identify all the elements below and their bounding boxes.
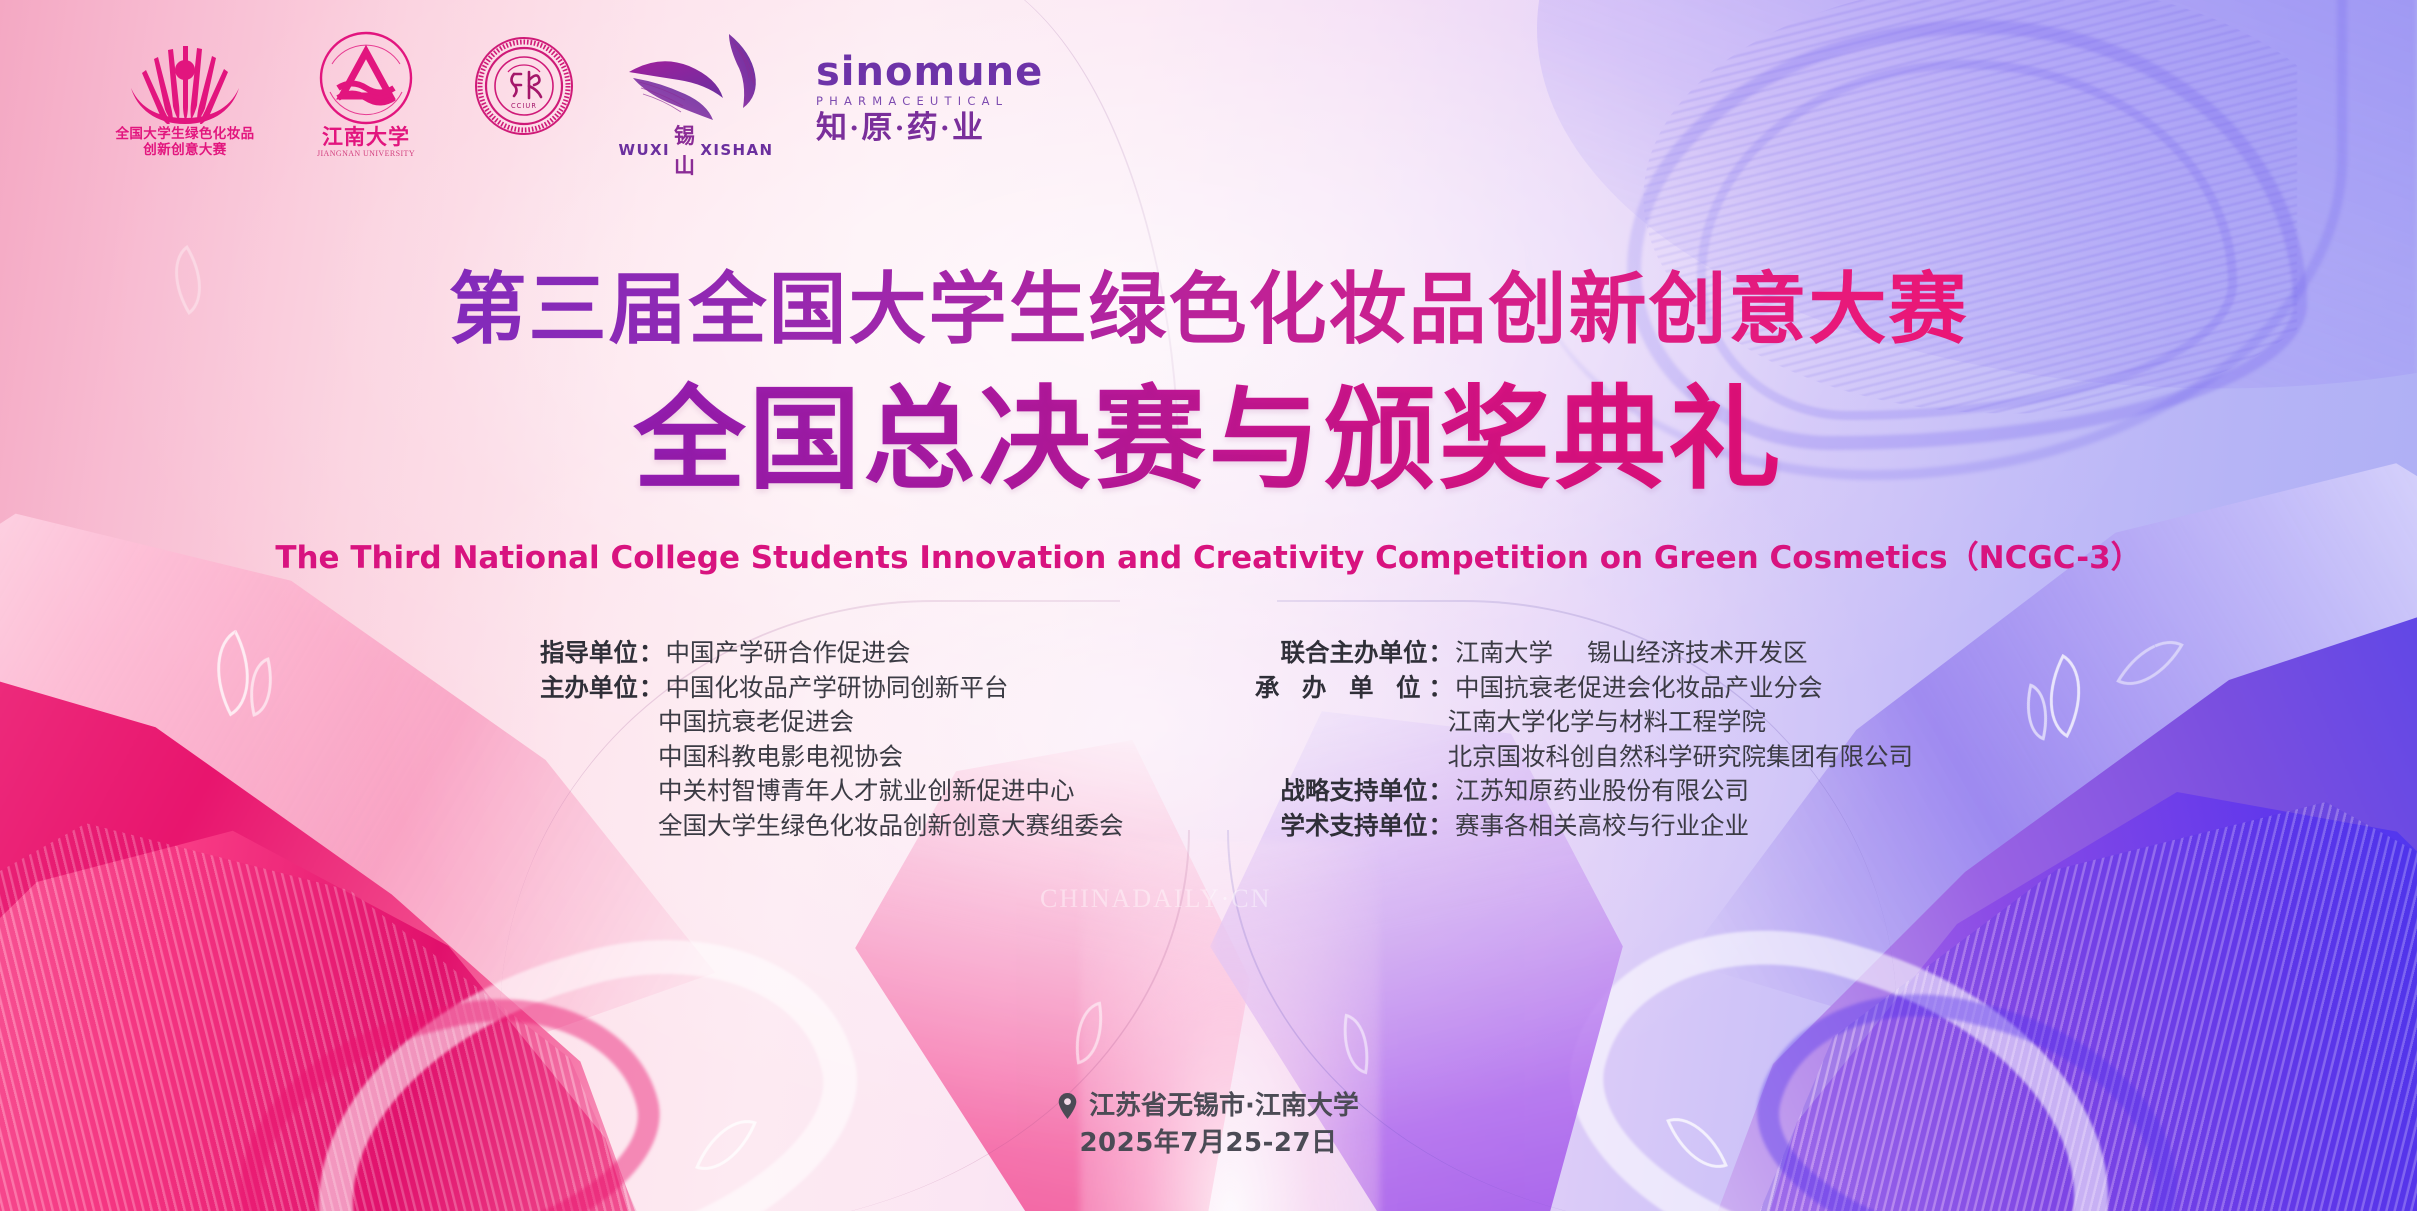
logo-wuxi-xishan: WUXI 锡山 XISHAN [620,30,772,180]
circular-seal-icon: CCIUR [474,36,574,136]
sponsor-logo-row: 全国大学生绿色化妆品 创新创意大赛 江南大学 JIANGNAN UNIV [110,30,1046,176]
map-pin-icon [1058,1093,1077,1119]
logo-sinomune: sinomune PHARMACEUTICAL 知·原·药·业 [816,30,1046,146]
logo-wuxi-caption-cn: 锡山 [674,120,696,180]
logo-ncgc-caption-1: 全国大学生绿色化妆品 [110,126,260,142]
svg-text:CCIUR: CCIUR [511,102,537,110]
event-title-line-1: 第三届全国大学生绿色化妆品创新创意大赛 [0,262,2417,358]
organizer-value: 中国抗衰老促进会 [658,705,854,740]
event-footer: 江苏省无锡市·江南大学 2025年7月25-27日 [0,1088,2417,1162]
event-title-line-2: 全国总决赛与颁奖典礼 [0,374,2417,506]
organizer-colon: ： [1428,774,1456,809]
organizer-value: 北京国妆科创自然科学研究院集团有限公司 [1448,740,1914,775]
organizer-colon-spacer [1428,740,1448,775]
organizer-row: 承 办 单 位 ： 中国抗衰老促进会化妆品产业分会 [1240,671,1914,706]
organizer-row: 指导单位 ： 中国产学研合作促进会 [504,636,1124,671]
event-subtitle-en: The Third National College Students Inno… [0,538,2417,578]
logo-cciur-seal: CCIUR [472,30,576,136]
organizer-value: 赛事各相关高校与行业企业 [1455,809,1749,844]
logo-ncgc-caption-2: 创新创意大赛 [110,142,260,158]
logo-sinomune-brand: sinomune [816,52,1046,92]
organizer-row: 北京国妆科创自然科学研究院集团有限公司 [1240,740,1914,775]
organizer-label: 主办单位 [504,671,638,706]
event-banner: CHINADAILY·CN [0,0,2417,1211]
organizer-colon: ： [1428,636,1456,671]
organizer-row: 全国大学生绿色化妆品创新创意大赛组委会 [504,809,1124,844]
organizer-label: 联合主办单位 [1240,636,1428,671]
xishan-swoosh-icon [625,30,767,134]
logo-ncgc-competition: 全国大学生绿色化妆品 创新创意大赛 [110,30,260,158]
organizer-column-left: 指导单位 ： 中国产学研合作促进会 主办单位 ： 中国化妆品产学研协同创新平台 … [504,636,1124,843]
organizer-value-part: 锡山经济技术开发区 [1587,638,1808,667]
lotus-fan-icon [121,32,249,124]
organizer-label: 指导单位 [504,636,638,671]
organizer-row: 主办单位 ： 中国化妆品产学研协同创新平台 [504,671,1124,706]
organizer-colon-spacer [1428,705,1448,740]
organizer-row: 联合主办单位 ： 江南大学锡山经济技术开发区 [1240,636,1914,671]
organizer-row: 中国科教电影电视协会 [504,740,1124,775]
organizer-label: 战略支持单位 [1240,774,1428,809]
organizer-label: 承 办 单 位 [1240,671,1428,706]
organizer-row: 中国抗衰老促进会 [504,705,1124,740]
organizer-value: 江苏知原药业股份有限公司 [1455,774,1749,809]
logo-wuxi-caption-right: XISHAN [700,141,773,159]
organizer-colon: ： [638,671,666,706]
organizer-value: 全国大学生绿色化妆品创新创意大赛组委会 [658,809,1124,844]
organizer-value: 中国化妆品产学研协同创新平台 [665,671,1008,706]
organizer-value: 中关村智博青年人才就业创新促进中心 [658,774,1075,809]
logo-wuxi-caption-left: WUXI [619,141,670,159]
organizer-row: 战略支持单位 ： 江苏知原药业股份有限公司 [1240,774,1914,809]
logo-wuxi-caption: WUXI 锡山 XISHAN [620,120,772,180]
organizer-row: 中关村智博青年人才就业创新促进中心 [504,774,1124,809]
logo-jiangnan-university: 江南大学 JIANGNAN UNIVERSITY [304,30,428,159]
event-date: 2025年7月25-27日 [0,1124,2417,1162]
logo-sinomune-brand-cn: 知·原·药·业 [816,110,1046,146]
organizer-colon-spacer [638,740,658,775]
organizer-colon-spacer [638,809,658,844]
organizer-value: 江南大学化学与材料工程学院 [1448,705,1767,740]
logo-jnu-caption-cn: 江南大学 [304,126,428,148]
organizer-colon: ： [1428,671,1456,706]
organizer-value-part: 江南大学 [1455,638,1553,667]
organizer-colon: ： [638,636,666,671]
organizer-colon-spacer [638,705,658,740]
organizer-label: 学术支持单位 [1240,809,1428,844]
organizer-section: 指导单位 ： 中国产学研合作促进会 主办单位 ： 中国化妆品产学研协同创新平台 … [0,636,2417,843]
organizer-value: 中国产学研合作促进会 [665,636,910,671]
organizer-column-right: 联合主办单位 ： 江南大学锡山经济技术开发区 承 办 单 位 ： 中国抗衰老促进… [1240,636,1914,843]
organizer-value: 中国科教电影电视协会 [658,740,903,775]
event-location: 江苏省无锡市·江南大学 [1089,1088,1359,1124]
organizer-row: 学术支持单位 ： 赛事各相关高校与行业企业 [1240,809,1914,844]
organizer-value: 中国抗衰老促进会化妆品产业分会 [1455,671,1823,706]
organizer-row: 江南大学化学与材料工程学院 [1240,705,1914,740]
logo-jnu-caption-en: JIANGNAN UNIVERSITY [304,148,428,159]
organizer-value: 江南大学锡山经济技术开发区 [1455,636,1808,671]
jiangnan-seal-icon [318,30,414,126]
organizer-colon: ： [1428,809,1456,844]
event-location-row: 江苏省无锡市·江南大学 [0,1088,2417,1124]
organizer-colon-spacer [638,774,658,809]
